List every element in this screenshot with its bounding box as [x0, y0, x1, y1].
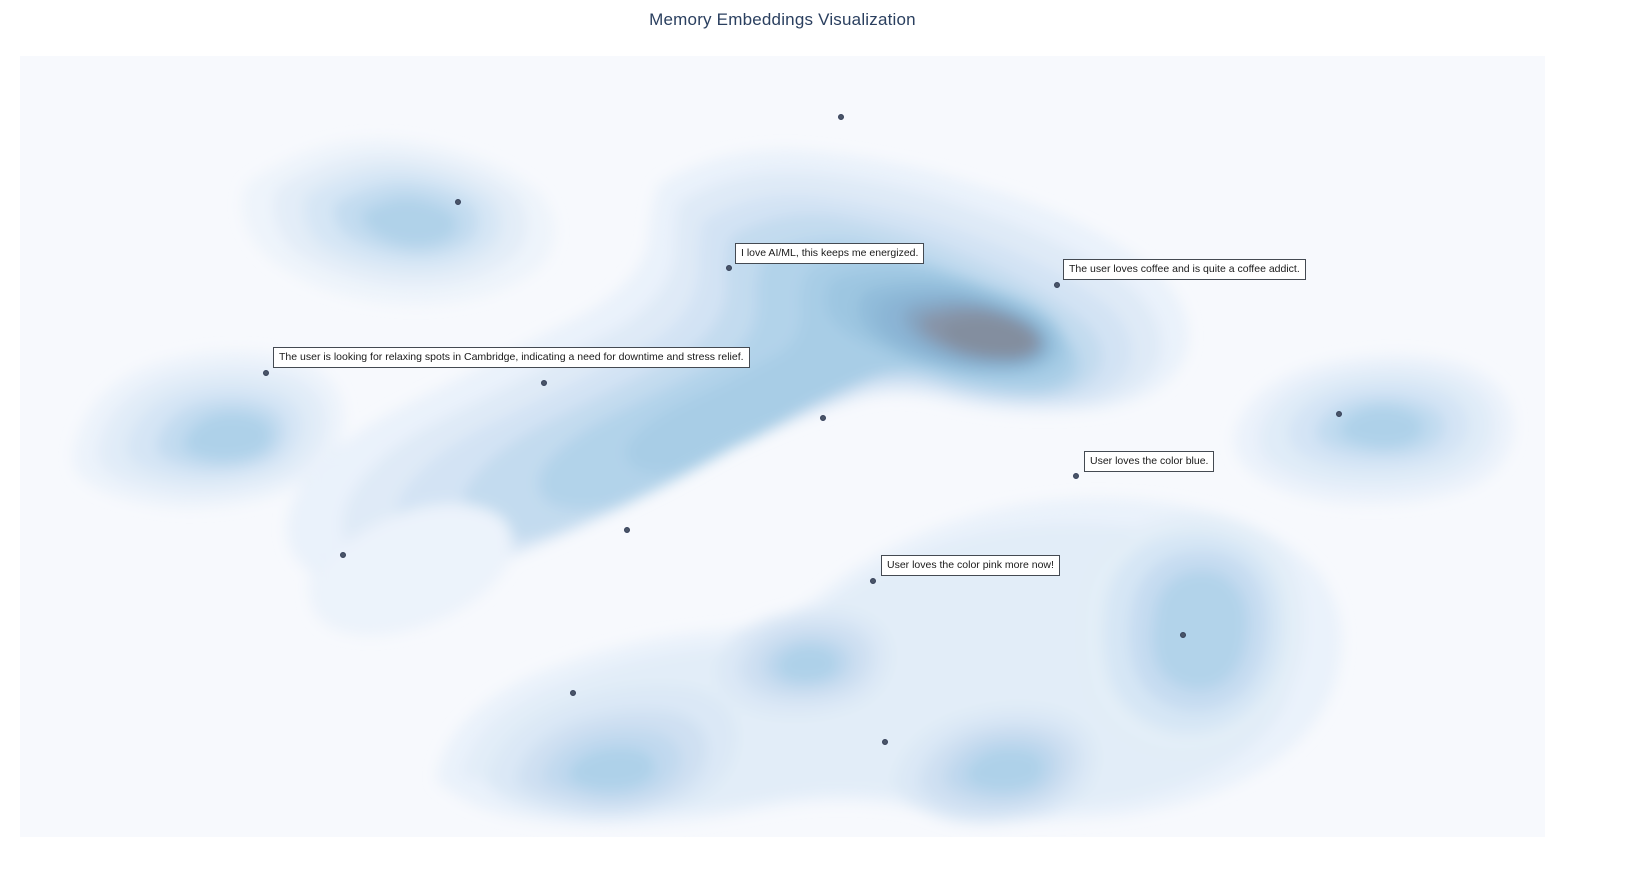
memory-embeddings-page: Memory Embeddings Visualization [0, 0, 1630, 891]
data-point[interactable] [820, 415, 826, 421]
data-point[interactable] [455, 199, 461, 205]
data-point[interactable] [541, 380, 547, 386]
data-point[interactable] [263, 370, 269, 376]
annotation-color-pink[interactable]: User loves the color pink more now! [881, 555, 1060, 576]
annotation-cambridge[interactable]: The user is looking for relaxing spots i… [273, 347, 750, 368]
annotation-color-blue[interactable]: User loves the color blue. [1084, 451, 1214, 472]
data-point[interactable] [726, 265, 732, 271]
data-point[interactable] [624, 527, 630, 533]
annotation-ai-ml[interactable]: I love AI/ML, this keeps me energized. [735, 243, 924, 264]
data-point[interactable] [882, 739, 888, 745]
plot-area[interactable]: I love AI/ML, this keeps me energized. T… [20, 56, 1545, 837]
data-point[interactable] [1073, 473, 1079, 479]
data-point[interactable] [570, 690, 576, 696]
data-point[interactable] [870, 578, 876, 584]
data-point[interactable] [838, 114, 844, 120]
data-point[interactable] [1336, 411, 1342, 417]
contour-density-plot [20, 56, 1545, 837]
annotation-coffee[interactable]: The user loves coffee and is quite a cof… [1063, 259, 1306, 280]
data-point[interactable] [1054, 282, 1060, 288]
data-point[interactable] [1180, 632, 1186, 638]
page-title: Memory Embeddings Visualization [0, 10, 1565, 30]
data-point[interactable] [340, 552, 346, 558]
